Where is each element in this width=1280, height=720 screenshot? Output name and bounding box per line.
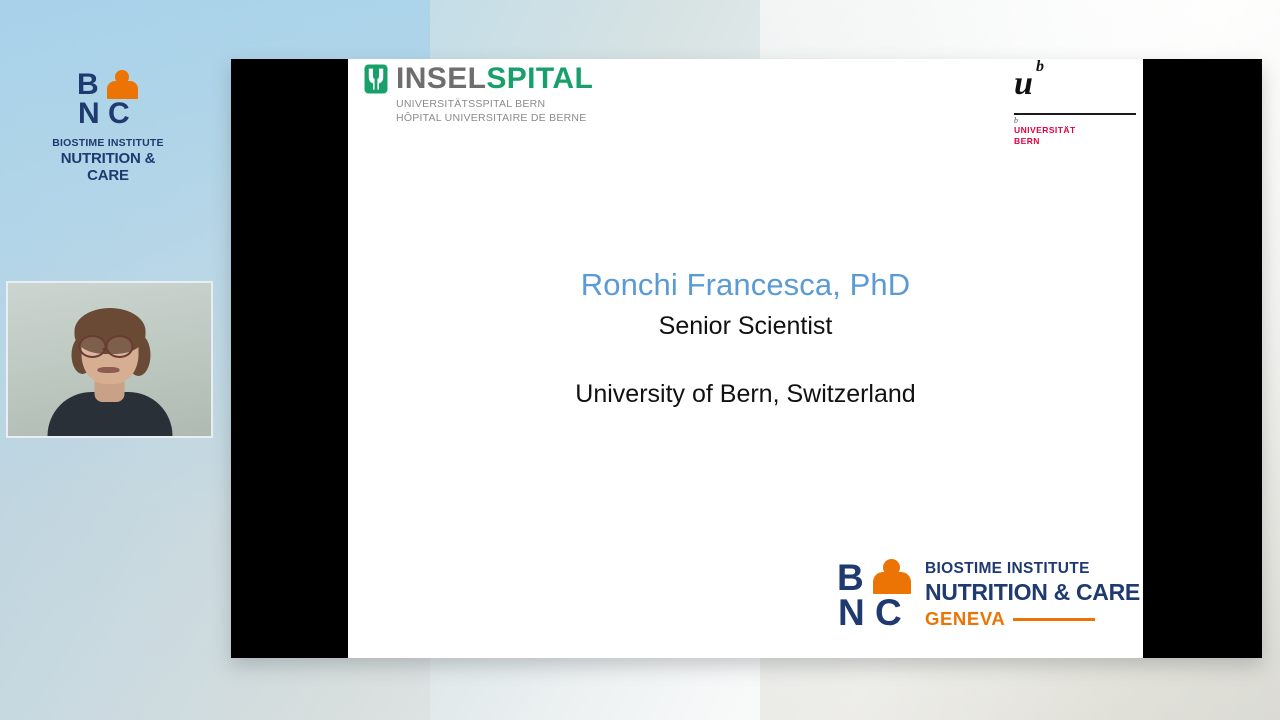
- slide-binc-person-icon: [873, 559, 911, 594]
- inselspital-subtitle-fr: HÔPITAL UNIVERSITAIRE DE BERNE: [396, 112, 593, 126]
- sidebar: B N C BIOSTIME INSTITUTE NUTRITION & CAR…: [0, 0, 216, 720]
- unibe-divider: [1014, 113, 1136, 115]
- presentation-slide[interactable]: INSELSPITAL UNIVERSITÄTSSPITAL BERN HÔPI…: [348, 59, 1143, 658]
- inselspital-wordmark: INSELSPITAL: [396, 64, 593, 94]
- slide-binc-letter-b: B: [837, 559, 863, 596]
- speaker-webcam-tile[interactable]: [6, 281, 213, 438]
- sidebar-binc-logo: B N C BIOSTIME INSTITUTE NUTRITION & CAR…: [40, 70, 176, 184]
- inselspital-word-spital: SPITAL: [486, 62, 593, 95]
- speaker-glasses-bridge: [102, 348, 107, 350]
- inselspital-word-insel: INSEL: [396, 62, 486, 95]
- slide-binc-person-body: [873, 572, 911, 594]
- sidebar-binc-line1: BIOSTIME INSTITUTE: [40, 137, 176, 149]
- binc-person-body: [107, 81, 138, 99]
- unibe-name-line2: BERN: [1014, 136, 1138, 147]
- speaker-role: Senior Scientist: [348, 311, 1143, 342]
- speaker-mouth: [97, 367, 119, 373]
- slide-binc-logo: B N C BIOSTIME INSTITUTE NUTRITION & CAR…: [837, 559, 1140, 631]
- binc-letter-c: C: [108, 99, 130, 129]
- slide-binc-wordmark: BIOSTIME INSTITUTE NUTRITION & CARE GENE…: [925, 560, 1140, 630]
- sidebar-binc-line2: NUTRITION & CARE: [40, 150, 176, 184]
- slide-binc-letter-n: N: [838, 594, 865, 631]
- slide-title-block: Ronchi Francesca, PhD Senior Scientist U…: [348, 266, 1143, 410]
- inselspital-subtitle-de: UNIVERSITÄTSSPITAL BERN: [396, 98, 593, 112]
- speaker-glasses-right-lens: [105, 335, 133, 358]
- slide-binc-line3-row: GENEVA: [925, 608, 1140, 630]
- slide-binc-letter-c: C: [875, 594, 902, 631]
- speaker-name: Ronchi Francesca, PhD: [348, 266, 1143, 304]
- inselspital-shield-icon: [364, 64, 388, 94]
- unibe-letter-u: u: [1014, 67, 1033, 101]
- slide-binc-logo-mark: B N C: [837, 559, 911, 631]
- slide-binc-line3: GENEVA: [925, 608, 1005, 630]
- slide-stage[interactable]: INSELSPITAL UNIVERSITÄTSSPITAL BERN HÔPI…: [231, 59, 1262, 658]
- binc-person-icon: [107, 70, 138, 99]
- unibe-small-b: b: [1014, 117, 1138, 126]
- speaker-affiliation: University of Bern, Switzerland: [348, 379, 1143, 410]
- inselspital-logo-row: INSELSPITAL: [364, 64, 593, 94]
- binc-letter-b: B: [77, 70, 98, 100]
- slide-binc-accent-rule: [1013, 618, 1095, 621]
- unibe-superscript-b: b: [1036, 59, 1044, 76]
- university-of-bern-logo: ub b UNIVERSITÄT BERN: [1014, 67, 1138, 147]
- inselspital-subtitle: UNIVERSITÄTSSPITAL BERN HÔPITAL UNIVERSI…: [396, 98, 593, 126]
- speaker-glasses-left-lens: [78, 335, 106, 358]
- slide-binc-line1: BIOSTIME INSTITUTE: [925, 560, 1140, 578]
- sidebar-binc-wordmark: BIOSTIME INSTITUTE NUTRITION & CARE: [40, 137, 176, 184]
- webcam-speaker-figure: [47, 298, 172, 436]
- binc-logo-mark: B N C: [77, 70, 139, 130]
- binc-letter-n: N: [78, 99, 100, 129]
- slide-binc-line2: NUTRITION & CARE: [925, 579, 1140, 606]
- unibe-name-line1: UNIVERSITÄT: [1014, 125, 1138, 136]
- inselspital-logo: INSELSPITAL UNIVERSITÄTSSPITAL BERN HÔPI…: [364, 64, 593, 126]
